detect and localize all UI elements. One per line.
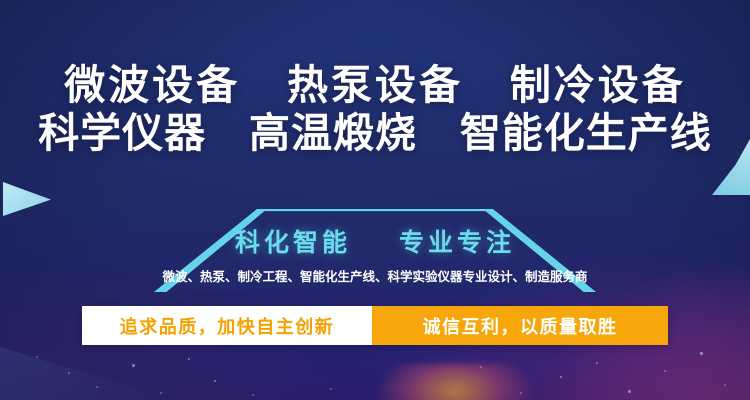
headline-term-heatpump: 热泵设备 [287,62,463,108]
headline-term-smartline: 智能化生产线 [460,110,712,156]
headline: 微波设备 热泵设备 制冷设备 科学仪器 高温煅烧 智能化生产线 [0,63,750,156]
headline-term-instruments: 科学仪器 [38,110,206,156]
slogan-quality: 追求品质，加快自主创新 [82,306,372,345]
slogan-bar-group: 追求品质，加快自主创新 诚信互利，以质量取胜 [82,306,668,345]
slogan-integrity: 诚信互利，以质量取胜 [372,306,668,345]
tagline-right: 专业专注 [399,229,515,257]
tagline-row: 科化智能 专业专注 [154,223,596,259]
tagline-left: 科化智能 [235,229,351,257]
panel-subtitle: 微波、热泵、制冷工程、智能化生产线、科学实验仪器专业设计、制造服务商 [154,266,596,285]
headline-term-refrigeration: 制冷设备 [510,62,686,108]
headline-term-microwave: 微波设备 [64,62,240,108]
tagline-panel: 科化智能 专业专注 微波、热泵、制冷工程、智能化生产线、科学实验仪器专业设计、制… [154,209,596,292]
headline-term-calcination: 高温煅烧 [249,110,417,156]
promo-banner: 微波设备 热泵设备 制冷设备 科学仪器 高温煅烧 智能化生产线 科化智能 专业专… [0,0,750,400]
